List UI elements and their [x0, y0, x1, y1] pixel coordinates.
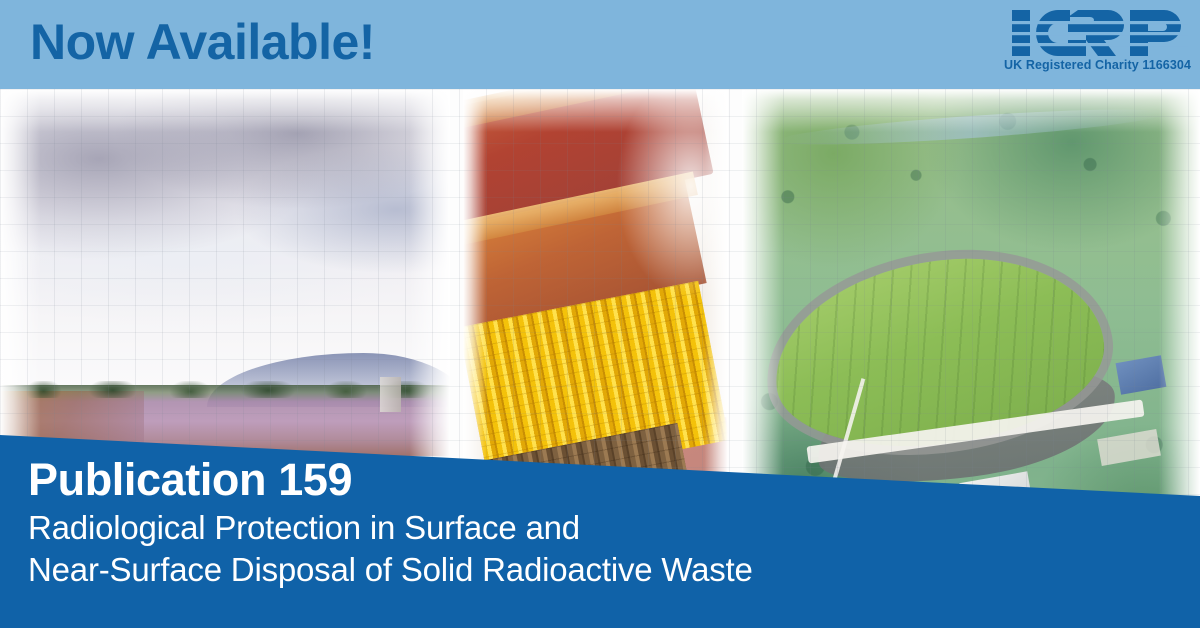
aerial-site-artwork: [742, 89, 1200, 628]
publication-subtitle-line-1: Radiological Protection in Surface and: [28, 508, 753, 547]
headline-now-available: Now Available!: [30, 12, 375, 72]
publication-subtitle-line-2: Near-Surface Disposal of Solid Radioacti…: [28, 550, 753, 589]
icrp-logo[interactable]: UK Registered Charity 1166304: [1004, 8, 1190, 82]
charity-registration-text: UK Registered Charity 1166304: [1004, 58, 1190, 72]
treeline: [9, 381, 441, 398]
top-banner: Now Available!: [0, 0, 1200, 89]
footer-text-block: Publication 159 Radiological Protection …: [28, 455, 753, 589]
icrp-wordmark-icon: [1012, 8, 1188, 58]
tower-structure: [380, 377, 400, 412]
publication-number: Publication 159: [28, 455, 753, 505]
image-panel-aerial-disposal-site: Aerial watercolour illustration of a cap…: [742, 89, 1200, 628]
icrp-publication-announcement-poster: Watercolour illustration of a flooded qu…: [0, 0, 1200, 628]
